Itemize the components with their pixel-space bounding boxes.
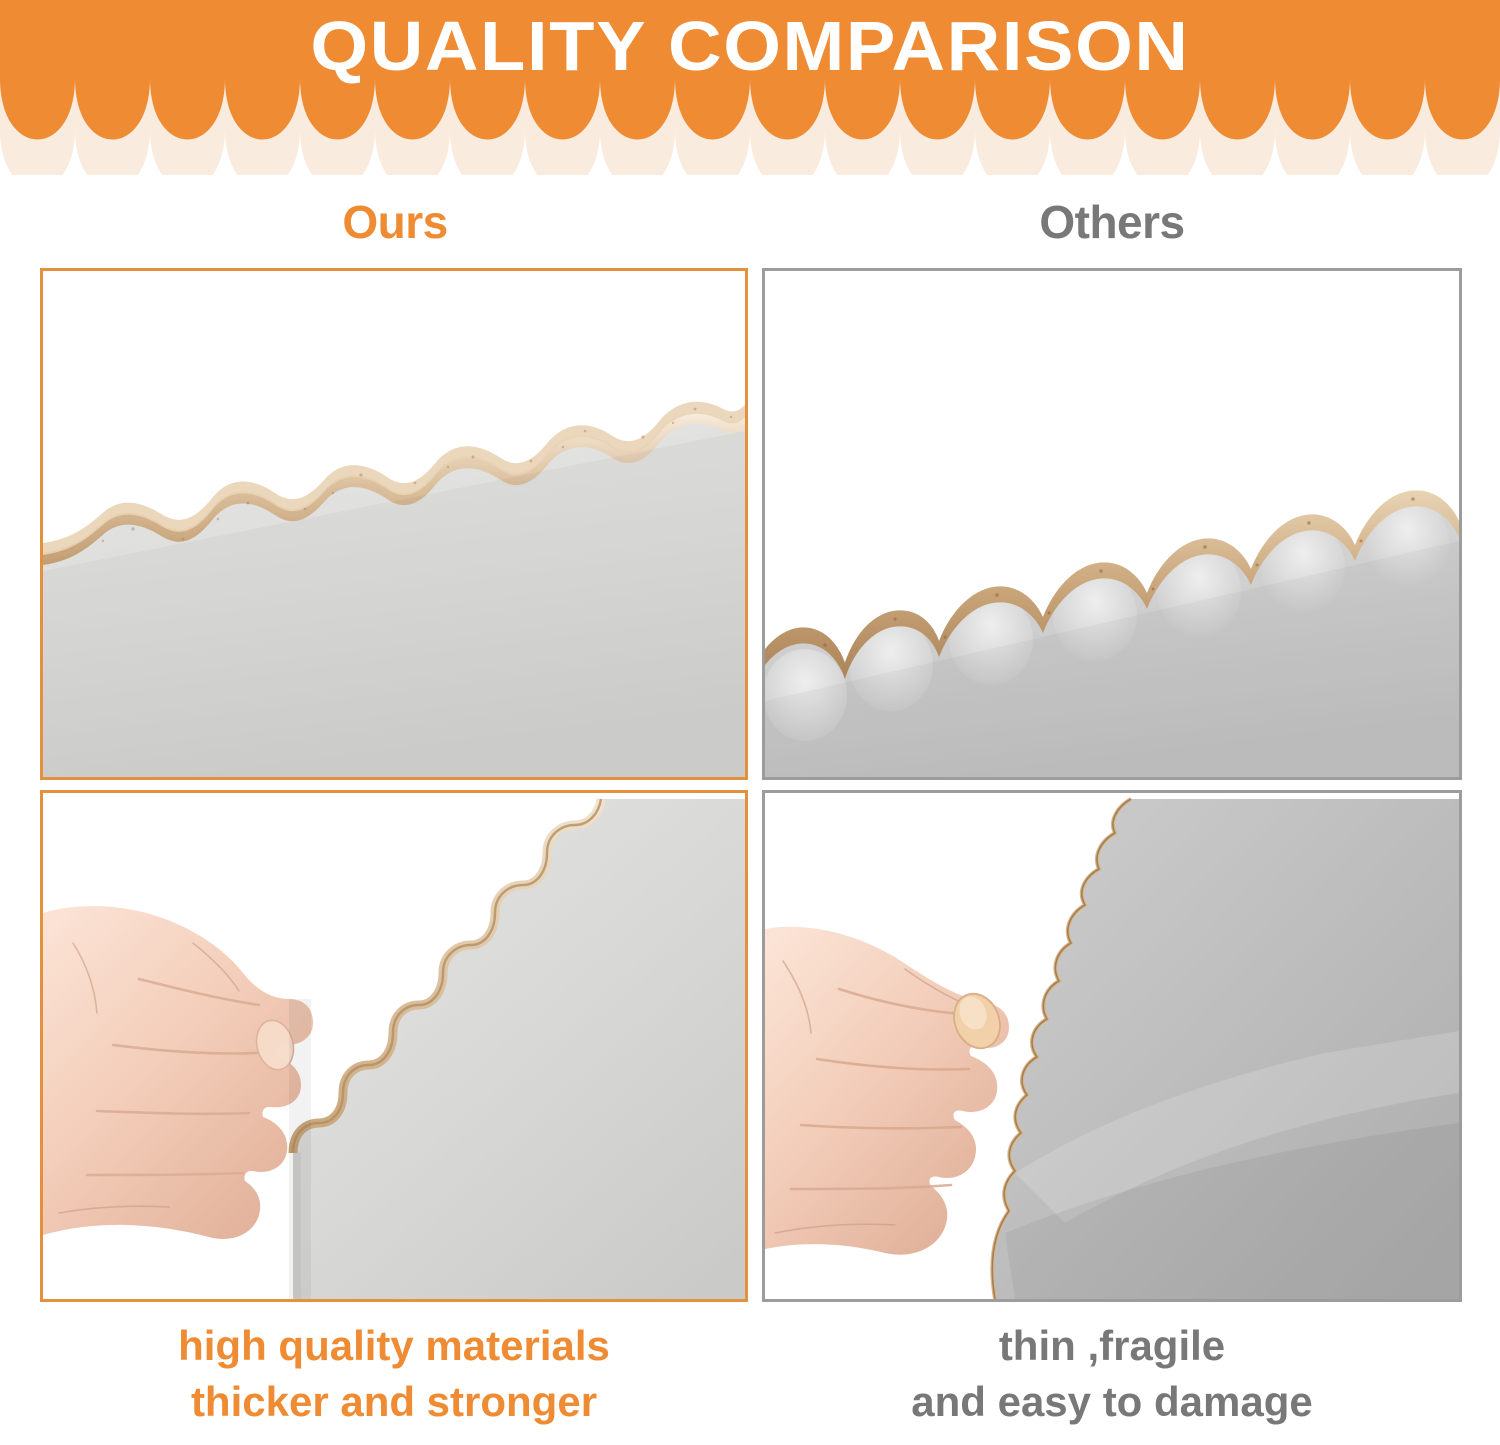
column-label-ours: Ours xyxy=(40,178,750,266)
caption-ours-line-1: high quality materials xyxy=(40,1318,748,1374)
caption-ours-line-2: thicker and stronger xyxy=(40,1374,748,1430)
thick-corrugated-board-photo xyxy=(43,271,745,777)
caption-others-line-2: and easy to damage xyxy=(762,1374,1462,1430)
caption-others-line-1: thin ,fragile xyxy=(762,1318,1462,1374)
caption-others: thin ,fragile and easy to damage xyxy=(762,1318,1462,1430)
photo-panel-ours-edge xyxy=(40,268,748,780)
photo-panel-ours-hand xyxy=(40,790,748,1302)
thin-corrugated-board-photo xyxy=(765,271,1459,777)
column-label-others: Others xyxy=(762,178,1462,266)
column-label-row: Ours Others xyxy=(0,178,1500,266)
caption-ours: high quality materials thicker and stron… xyxy=(40,1318,748,1430)
photo-panel-others-edge xyxy=(762,268,1462,780)
hand-holding-rigid-board-photo xyxy=(43,793,745,1299)
hand-bending-flimsy-board-photo xyxy=(765,793,1459,1299)
page-title: QUALITY COMPARISON xyxy=(0,4,1500,88)
photo-panel-others-hand xyxy=(762,790,1462,1302)
header-banner: QUALITY COMPARISON xyxy=(0,0,1500,175)
